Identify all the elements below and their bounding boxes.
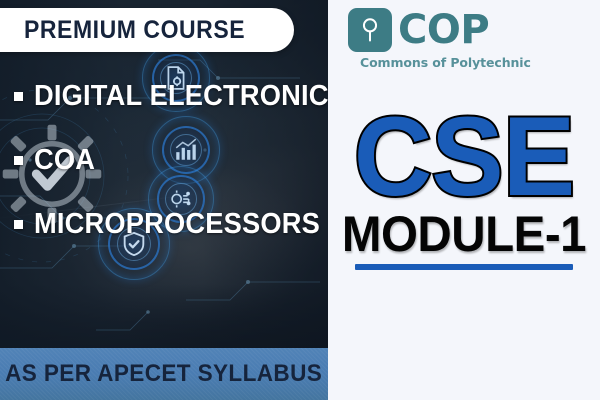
headline-block: CSE MODULE-1: [328, 108, 600, 270]
magnifier-icon: [348, 8, 392, 52]
premium-course-badge: PREMIUM COURSE: [0, 8, 294, 52]
brand-tagline: Commons of Polytechnic: [360, 55, 584, 70]
premium-course-badge-label: PREMIUM COURSE: [24, 16, 245, 45]
course-promo-poster: PREMIUM COURSE DIGITAL ELECTRONICS COA M…: [0, 0, 600, 400]
brand-logo: COP Commons of Polytechnic: [348, 8, 584, 70]
brand-logo-row: COP: [348, 8, 584, 52]
square-bullet-icon: [14, 220, 23, 229]
square-bullet-icon: [14, 92, 23, 101]
module-subtitle: MODULE-1: [335, 209, 593, 259]
module-underline-rule: [355, 264, 573, 270]
left-hero-panel: PREMIUM COURSE DIGITAL ELECTRONICS COA M…: [0, 0, 328, 400]
list-item: MICROPROCESSORS: [14, 210, 314, 239]
brand-name: COP: [398, 10, 489, 50]
course-item-label: COA: [34, 146, 95, 175]
course-item-label: DIGITAL ELECTRONICS: [34, 82, 328, 111]
square-bullet-icon: [14, 156, 23, 165]
syllabus-banner: AS PER APECET SYLLABUS: [0, 348, 328, 400]
page-title: CSE: [332, 108, 596, 207]
course-item-label: MICROPROCESSORS: [34, 210, 320, 239]
list-item: DIGITAL ELECTRONICS: [14, 82, 314, 111]
syllabus-banner-label: AS PER APECET SYLLABUS: [5, 360, 322, 388]
course-list: DIGITAL ELECTRONICS COA MICROPROCESSORS: [14, 82, 314, 274]
list-item: COA: [14, 146, 314, 175]
right-info-panel: COP Commons of Polytechnic CSE MODULE-1: [328, 0, 600, 400]
